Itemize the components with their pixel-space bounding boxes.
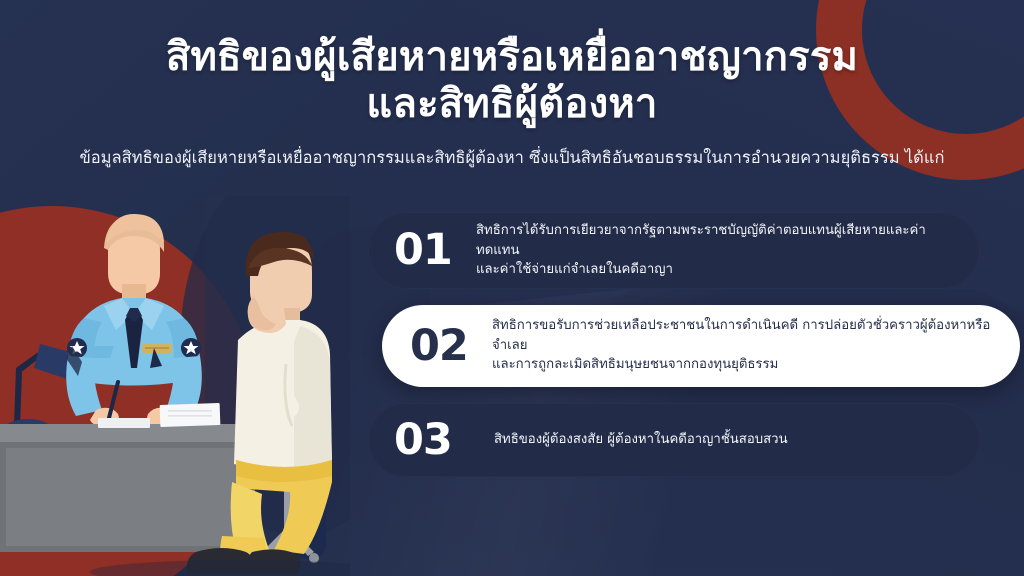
page-title: สิทธิของผู้เสียหายหรือเหยื่ออาชญากรรม แล… (0, 0, 1024, 128)
title-line-1: สิทธิของผู้เสียหายหรือเหยื่ออาชญากรรม (166, 34, 858, 80)
spacer (0, 289, 1024, 305)
infographic-slide: สิทธิของผู้เสียหายหรือเหยื่ออาชญากรรม แล… (0, 0, 1024, 576)
item-text-02: สิทธิการขอรับการช่วยเหลือประชาชนในการดำเ… (484, 316, 1000, 375)
item-02-line-1: สิทธิการขอรับการช่วยเหลือประชาชนในการดำเ… (492, 316, 1000, 355)
spacer (0, 387, 1024, 403)
slide-header: สิทธิของผู้เสียหายหรือเหยื่ออาชญากรรม แล… (0, 0, 1024, 169)
item-02-line-2: และการถูกละเมิดสิทธิมนุษยชนจากกองทุนยุติ… (492, 355, 1000, 375)
item-text-01: สิทธิการได้รับการเยียวยาจากรัฐตามพระราชบ… (468, 221, 962, 280)
item-01-line-1: สิทธิการได้รับการเยียวยาจากรัฐตามพระราชบ… (476, 221, 962, 260)
item-number-02: 02 (410, 324, 484, 368)
list-item-01[interactable]: 01 สิทธิการได้รับการเยียวยาจากรัฐตามพระร… (368, 212, 980, 289)
item-number-01: 01 (394, 228, 468, 272)
rights-list: 01 สิทธิการได้รับการเยียวยาจากรัฐตามพระร… (0, 212, 1024, 477)
item-01-line-2: และค่าใช้จ่ายแก่จำเลยในคดีอาญา (476, 260, 962, 280)
list-item-03[interactable]: 03 สิทธิของผู้ต้องสงสัย ผู้ต้องหาในคดีอา… (368, 403, 980, 477)
list-item-02[interactable]: 02 สิทธิการขอรับการช่วยเหลือประชาชนในการ… (382, 305, 1020, 387)
page-subtitle: ข้อมูลสิทธิของผู้เสียหายหรือเหยื่ออาชญาก… (0, 128, 1024, 169)
item-text-03: สิทธิของผู้ต้องสงสัย ผู้ต้องหาในคดีอาญาช… (486, 430, 788, 450)
title-line-2: และสิทธิผู้ต้องหา (0, 81, 1024, 128)
item-number-03: 03 (394, 418, 486, 462)
item-03-line-1: สิทธิของผู้ต้องสงสัย ผู้ต้องหาในคดีอาญาช… (494, 430, 788, 450)
